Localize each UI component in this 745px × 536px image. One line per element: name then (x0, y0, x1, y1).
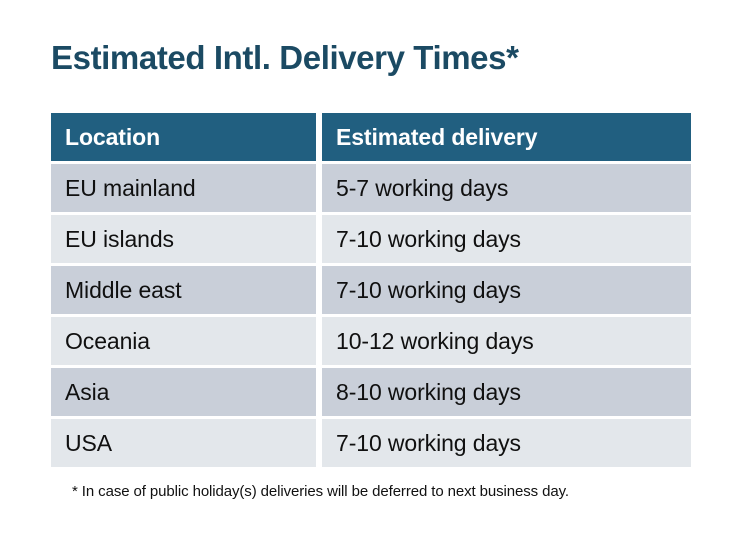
column-header-location: Location (51, 113, 316, 161)
table-row: EU mainland 5-7 working days (51, 164, 691, 212)
delivery-times-page: Estimated Intl. Delivery Times* Location… (0, 0, 745, 536)
cell-estimated-delivery: 5-7 working days (322, 164, 691, 212)
table-header-row: Location Estimated delivery (51, 113, 691, 161)
table-row: Oceania 10-12 working days (51, 317, 691, 365)
estimated-delivery-times-table: Location Estimated delivery EU mainland … (51, 113, 691, 467)
cell-estimated-delivery: 10-12 working days (322, 317, 691, 365)
cell-location: EU islands (51, 215, 316, 263)
footnote-public-holiday: * In case of public holiday(s) deliverie… (72, 481, 569, 503)
table-row: EU islands 7-10 working days (51, 215, 691, 263)
cell-estimated-delivery: 8-10 working days (322, 368, 691, 416)
page-title: Estimated Intl. Delivery Times* (51, 36, 519, 80)
cell-location: Middle east (51, 266, 316, 314)
cell-estimated-delivery: 7-10 working days (322, 215, 691, 263)
cell-location: EU mainland (51, 164, 316, 212)
column-header-estimated-delivery: Estimated delivery (322, 113, 691, 161)
cell-location: Oceania (51, 317, 316, 365)
table-row: Middle east 7-10 working days (51, 266, 691, 314)
cell-estimated-delivery: 7-10 working days (322, 419, 691, 467)
cell-location: USA (51, 419, 316, 467)
cell-location: Asia (51, 368, 316, 416)
cell-estimated-delivery: 7-10 working days (322, 266, 691, 314)
table-row: USA 7-10 working days (51, 419, 691, 467)
table-row: Asia 8-10 working days (51, 368, 691, 416)
